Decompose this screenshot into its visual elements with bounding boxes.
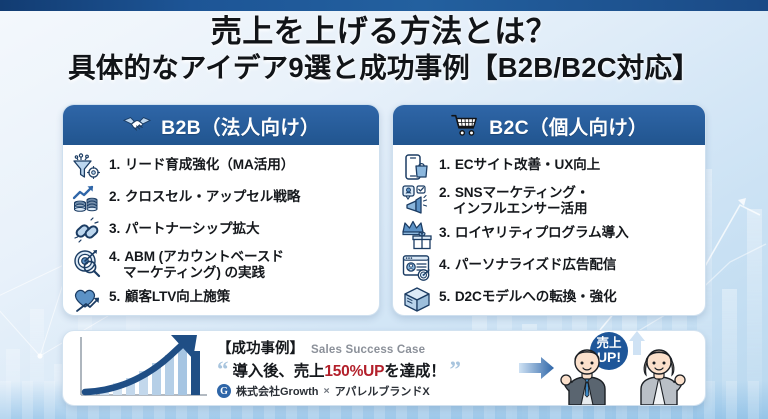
list-item[interactable]: 1. リード育成強化（MA活用） <box>72 152 370 182</box>
success-case-quote-row: “ 導入後、売上150%UPを達成！ ” <box>217 359 519 381</box>
success-case-quote: 導入後、売上150%UPを達成！ <box>233 359 446 381</box>
growth-logo-icon: G <box>217 384 231 398</box>
list-item[interactable]: 4. ABM (アカウントベースドマーケティング) の実践 <box>72 248 370 282</box>
two-businesspeople-icon: 売上 UP! <box>555 331 705 405</box>
browser-target-icon <box>402 252 432 282</box>
phone-bag-icon <box>402 152 432 182</box>
list-item[interactable]: 5. 顧客LTV向上施策 <box>72 284 370 314</box>
handshake-icon <box>122 112 152 138</box>
shopping-cart-icon <box>450 112 480 138</box>
success-case-tag: 【成功事例】 <box>217 337 304 358</box>
company-name-2: アパレルブランドX <box>335 383 430 399</box>
company-name-1: 株式会社Growth <box>236 383 319 399</box>
infographic-canvas: 売上を上げる方法とは？ 具体的なアイデア9選と成功事例【B2B/B2C対応】 B… <box>0 0 768 419</box>
list-item[interactable]: 5. D2Cモデルへの転換・強化 <box>402 284 696 314</box>
list-item[interactable]: 1. ECサイト改善・UX向上 <box>402 152 696 182</box>
chain-link-icon <box>72 216 102 246</box>
growth-coins-icon <box>72 184 102 214</box>
list-item[interactable]: 3. ロイヤリティプログラム導入 <box>402 220 696 250</box>
cross-symbol: × <box>324 385 330 397</box>
card-b2b-body: 1. リード育成強化（MA活用） <box>63 145 379 316</box>
card-b2b[interactable]: B2B（法人向け） 1. リード育成強化（MA活用） <box>62 104 380 316</box>
quote-open-icon: “ <box>217 361 229 379</box>
megaphone-profile-icon <box>402 184 432 214</box>
list-item-label: 2. クロスセル・アップセル戦略 <box>109 184 300 206</box>
card-b2c-body: 1. ECサイト改善・UX向上 <box>393 145 705 316</box>
arrow-right-icon <box>519 355 555 381</box>
list-item-label: 3. パートナーシップ拡大 <box>109 216 260 238</box>
success-case-companies-row: G 株式会社Growth × アパレルブランドX <box>217 383 519 399</box>
list-item-label: 1. リード育成強化（MA活用） <box>109 152 294 174</box>
list-item-label: 5. 顧客LTV向上施策 <box>109 284 230 306</box>
list-item-label: 4. パーソナライズド広告配信 <box>439 252 616 274</box>
title-line-1: 売上を上げる方法とは？ <box>0 14 768 49</box>
list-item[interactable]: 2. クロスセル・アップセル戦略 <box>72 184 370 214</box>
card-b2c-title: B2C（個人向け） <box>489 111 648 140</box>
target-search-icon <box>72 248 102 278</box>
card-b2b-title: B2B（法人向け） <box>161 111 320 140</box>
card-b2c-header: B2C（個人向け） <box>393 105 705 145</box>
badge-line-1: 売上 <box>596 335 622 350</box>
list-item-label: 3. ロイヤリティプログラム導入 <box>439 220 629 242</box>
package-box-icon <box>402 284 432 314</box>
growth-chart-arrow-icon <box>67 333 213 403</box>
success-case-heading-row: 【成功事例】 Sales Success Case <box>217 337 519 358</box>
title-line-2: 具体的なアイデア9選と成功事例【B2B/B2C対応】 <box>0 51 768 84</box>
list-item-label: 5. D2Cモデルへの転換・強化 <box>439 284 617 306</box>
list-item[interactable]: 2. SNSマーケティング・インフルエンサー活用 <box>402 184 696 218</box>
heart-arrow-icon <box>72 284 102 314</box>
funnel-gear-icon <box>72 152 102 182</box>
success-case-panel[interactable]: 【成功事例】 Sales Success Case “ 導入後、売上150%UP… <box>62 330 706 406</box>
quote-highlight: 150%UP <box>324 363 384 380</box>
list-item-label: 4. ABM (アカウントベースドマーケティング) の実践 <box>109 248 284 282</box>
crown-gift-icon <box>402 220 432 250</box>
success-case-text: 【成功事例】 Sales Success Case “ 導入後、売上150%UP… <box>213 337 519 399</box>
card-b2c[interactable]: B2C（個人向け） 1. ECサイト改善・UX向上 <box>392 104 706 316</box>
top-accent-bar <box>0 0 768 11</box>
page-title: 売上を上げる方法とは？ 具体的なアイデア9選と成功事例【B2B/B2C対応】 <box>0 14 768 84</box>
list-item[interactable]: 4. パーソナライズド広告配信 <box>402 252 696 282</box>
list-item[interactable]: 3. パートナーシップ拡大 <box>72 216 370 246</box>
card-b2b-header: B2B（法人向け） <box>63 105 379 145</box>
badge-line-2: UP! <box>597 349 621 365</box>
success-case-en-label: Sales Success Case <box>311 344 425 356</box>
list-item-label: 2. SNSマーケティング・インフルエンサー活用 <box>439 184 589 218</box>
list-item-label: 1. ECサイト改善・UX向上 <box>439 152 600 174</box>
quote-close-icon: ” <box>450 361 462 379</box>
